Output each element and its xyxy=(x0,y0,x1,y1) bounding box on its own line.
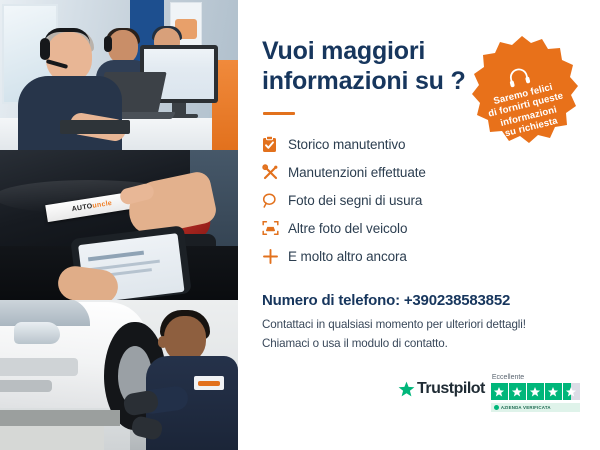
sticker-on-car-photo: AUTOuncle xyxy=(0,150,238,300)
tools-cross-icon xyxy=(262,162,288,182)
contact-subtitle-line-2: Chiamaci o usa il modulo di contatto. xyxy=(262,337,448,350)
contact-subtitle-line-1: Contattaci in qualsiasi momento per ulte… xyxy=(262,318,526,331)
page-title: Vuoi maggiori informazioni su ? xyxy=(262,36,477,96)
feature-item-molto-altro: E molto altro ancora xyxy=(262,242,552,270)
feature-item-foto-segni-usura: Foto dei segni di usura xyxy=(262,186,552,214)
trustpilot-star-icon xyxy=(398,381,415,398)
feature-label: Foto dei segni di usura xyxy=(288,193,422,208)
promo-card: AUTOuncle xyxy=(0,0,600,450)
verified-label: AZIENDA VERIFICATA xyxy=(501,405,551,410)
feature-label: E molto altro ancora xyxy=(288,249,407,264)
verified-badge: AZIENDA VERIFICATA xyxy=(491,403,580,412)
title-divider xyxy=(263,112,295,115)
magnifier-icon xyxy=(262,190,288,210)
callout-badge: Saremo felici di fornirti queste informa… xyxy=(466,34,578,146)
feature-label: Storico manutentivo xyxy=(288,137,405,152)
headline-line-1: Vuoi maggiori xyxy=(262,37,425,65)
trustpilot-rating-label: Eccellente xyxy=(492,374,580,381)
photo-column: AUTOuncle xyxy=(0,0,238,450)
headset-icon xyxy=(506,66,532,89)
trustpilot-logo: Trustpilot xyxy=(398,380,485,398)
phone-label: Numero di telefono: xyxy=(262,292,404,309)
star-filled xyxy=(509,383,526,400)
star-half xyxy=(563,383,580,400)
feature-item-altre-foto-veicolo: Altre foto del veicolo xyxy=(262,214,552,242)
trustpilot-widget[interactable]: Trustpilot Eccellente xyxy=(398,374,580,412)
star-filled xyxy=(491,383,508,400)
phone-number[interactable]: +390238583852 xyxy=(404,292,510,309)
car-scan-icon xyxy=(262,218,288,238)
headline-line-2: informazioni su ? xyxy=(262,66,477,96)
feature-label: Manutenzioni effettuate xyxy=(288,165,426,180)
feature-item-manutenzioni-effettuate: Manutenzioni effettuate xyxy=(262,158,552,186)
phone-line: Numero di telefono: +390238583852 xyxy=(262,292,510,309)
trustpilot-stars xyxy=(491,383,580,400)
call-center-operators-photo xyxy=(0,0,238,150)
star-filled xyxy=(545,383,562,400)
clipboard-check-icon xyxy=(262,134,288,154)
plus-icon xyxy=(262,246,288,266)
star-filled xyxy=(527,383,544,400)
feature-label: Altre foto del veicolo xyxy=(288,221,407,236)
mechanic-wheel-photo xyxy=(0,300,238,450)
verified-dot-icon xyxy=(494,405,499,410)
trustpilot-name: Trustpilot xyxy=(417,380,485,398)
